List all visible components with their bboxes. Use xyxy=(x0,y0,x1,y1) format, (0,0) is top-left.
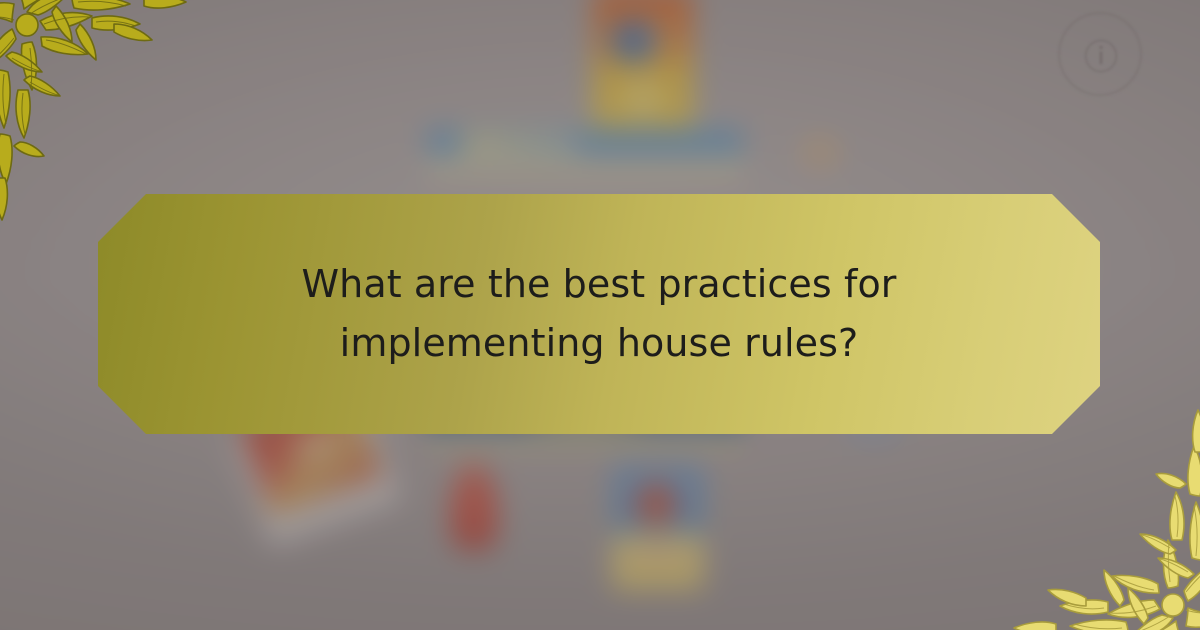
question-text: What are the best practices for implemen… xyxy=(168,255,1030,373)
image-canvas: ⓘ xyxy=(0,0,1200,630)
question-banner: What are the best practices for implemen… xyxy=(98,194,1100,434)
watermark-glyph: ⓘ xyxy=(1084,30,1116,79)
watermark-logo: ⓘ xyxy=(1058,12,1142,96)
